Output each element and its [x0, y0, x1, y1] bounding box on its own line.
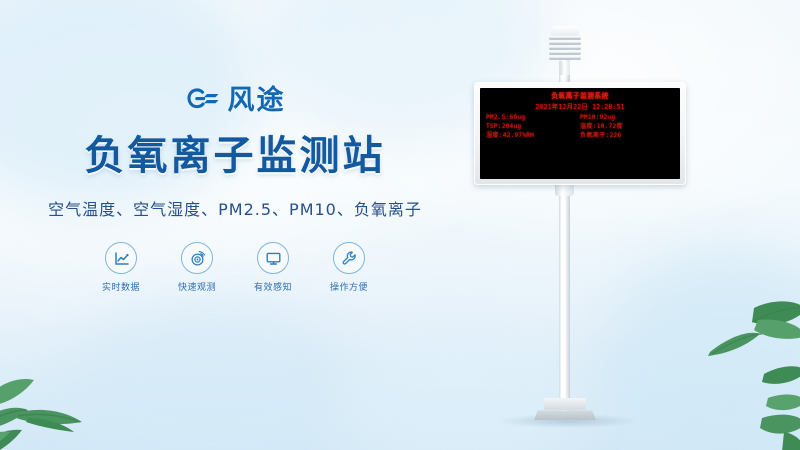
led-datetime: 2021年12月22日 12:20:51	[486, 103, 674, 113]
led-reading-tsp: TSP:204ug	[486, 123, 580, 132]
radiation-shield-sensor	[548, 26, 582, 72]
marketing-text-block: 风途 负氧离子监测站 空气温度、空气湿度、PM2.5、PM10、负氧离子 实时数…	[0, 78, 470, 293]
led-reading-temperature: 温度:10.72度	[580, 123, 674, 132]
brand-logo: 风途	[0, 78, 470, 122]
led-display-panel[interactable]: 负氧离子监测系统 2021年12月22日 12:20:51 PM2.5:69ug…	[474, 82, 686, 185]
wrench-icon	[333, 242, 365, 274]
fengtu-g-logo-icon	[185, 85, 221, 115]
plant-decoration-right	[688, 292, 800, 450]
feature-label: 操作方便	[327, 280, 371, 293]
led-left-column: PM2.5:69ug TSP:204ug 湿度:42.97%RH	[486, 114, 580, 141]
sensor-louver-plates	[549, 36, 581, 62]
page-subtitle: 空气温度、空气湿度、PM2.5、PM10、负氧离子	[0, 196, 470, 220]
feature-list: 实时数据 快速观测	[0, 242, 470, 293]
led-screen: 负氧离子监测系统 2021年12月22日 12:20:51 PM2.5:69ug…	[480, 88, 680, 179]
feature-item-realtime-data[interactable]: 实时数据	[99, 242, 143, 293]
feature-label: 实时数据	[99, 280, 143, 293]
led-right-column: PM10:92ug 温度:10.72度 负氧离子:226	[580, 114, 674, 141]
promo-banner: 风途 负氧离子监测站 空气温度、空气湿度、PM2.5、PM10、负氧离子 实时数…	[0, 0, 800, 450]
feature-label: 快速观测	[175, 280, 219, 293]
pole-base-plate	[544, 398, 586, 410]
brand-name: 风途	[228, 87, 286, 114]
background-wash	[330, 330, 590, 450]
feature-item-effective-sensing[interactable]: 有效感知	[251, 242, 295, 293]
page-title: 负氧离子监测站	[0, 134, 470, 178]
led-readings-grid: PM2.5:69ug TSP:204ug 湿度:42.97%RH PM10:92…	[486, 114, 674, 141]
radar-signal-icon	[181, 242, 213, 274]
feature-item-fast-observation[interactable]: 快速观测	[175, 242, 219, 293]
background-wash	[60, 300, 360, 450]
sensor-stem	[560, 61, 570, 75]
feature-item-easy-operation[interactable]: 操作方便	[327, 242, 371, 293]
led-reading-anion: 负氧离子:226	[580, 132, 674, 141]
plant-decoration-left	[0, 318, 120, 450]
feature-label: 有效感知	[251, 280, 295, 293]
led-reading-humidity: 湿度:42.97%RH	[486, 132, 580, 141]
line-chart-icon	[105, 242, 137, 274]
led-title: 负氧离子监测系统	[486, 92, 674, 102]
monitor-icon	[257, 242, 289, 274]
